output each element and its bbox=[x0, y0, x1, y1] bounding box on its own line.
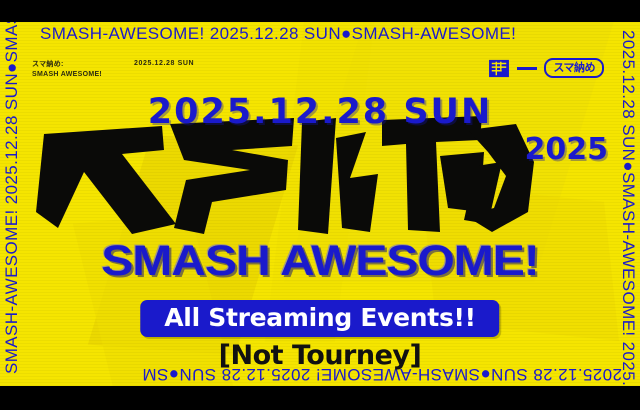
letterbox-top bbox=[0, 0, 640, 22]
marquee-left-text: SMASH-AWESOME! 2025.12.28 SUN●SMASH-AWES… bbox=[0, 22, 22, 386]
credit-date: 2025.12.28 SUN bbox=[134, 60, 194, 67]
kanji-mark-icon bbox=[488, 59, 510, 78]
marquee-right: 2025.12.28 SUN●SMASH-AWESOME! 2025.12.28… bbox=[618, 22, 640, 386]
credit-block: スマ納め: SMASH AWESOME! bbox=[32, 60, 102, 80]
brand-logo: スマ納め bbox=[488, 58, 604, 78]
poster-canvas: SMASH-AWESOME! 2025.12.28 SUN●SMASH-AWES… bbox=[0, 22, 640, 386]
streaming-events-banner: All Streaming Events!! bbox=[140, 300, 499, 337]
kana-logo bbox=[36, 116, 536, 236]
marquee-top-text: SMASH-AWESOME! 2025.12.28 SUN●SMASH-AWES… bbox=[0, 25, 516, 42]
logo-divider bbox=[517, 67, 537, 70]
smash-title: SMASH AWESOME! bbox=[0, 240, 640, 283]
poster-content: スマ納め: SMASH AWESOME! 2025.12.28 SUN スマ納め… bbox=[22, 44, 618, 364]
credit-line-2: SMASH AWESOME! bbox=[32, 70, 102, 80]
thumbnail-stage: SMASH-AWESOME! 2025.12.28 SUN●SMASH-AWES… bbox=[0, 0, 640, 410]
credit-line-1: スマ納め: bbox=[32, 60, 102, 70]
letterbox-bottom bbox=[0, 386, 640, 410]
marquee-top: SMASH-AWESOME! 2025.12.28 SUN●SMASH-AWES… bbox=[0, 22, 640, 44]
marquee-right-text: 2025.12.28 SUN●SMASH-AWESOME! 2025.12.28… bbox=[618, 22, 640, 386]
headline-date: 2025.12.28 SUN bbox=[22, 92, 618, 132]
year-badge: 2025 bbox=[525, 132, 609, 167]
logo-wordmark: スマ納め bbox=[544, 58, 604, 78]
marquee-left: SMASH-AWESOME! 2025.12.28 SUN●SMASH-AWES… bbox=[0, 22, 22, 386]
not-tourney-note: [Not Tourney] bbox=[22, 342, 618, 369]
kana-logo-art bbox=[36, 116, 536, 236]
